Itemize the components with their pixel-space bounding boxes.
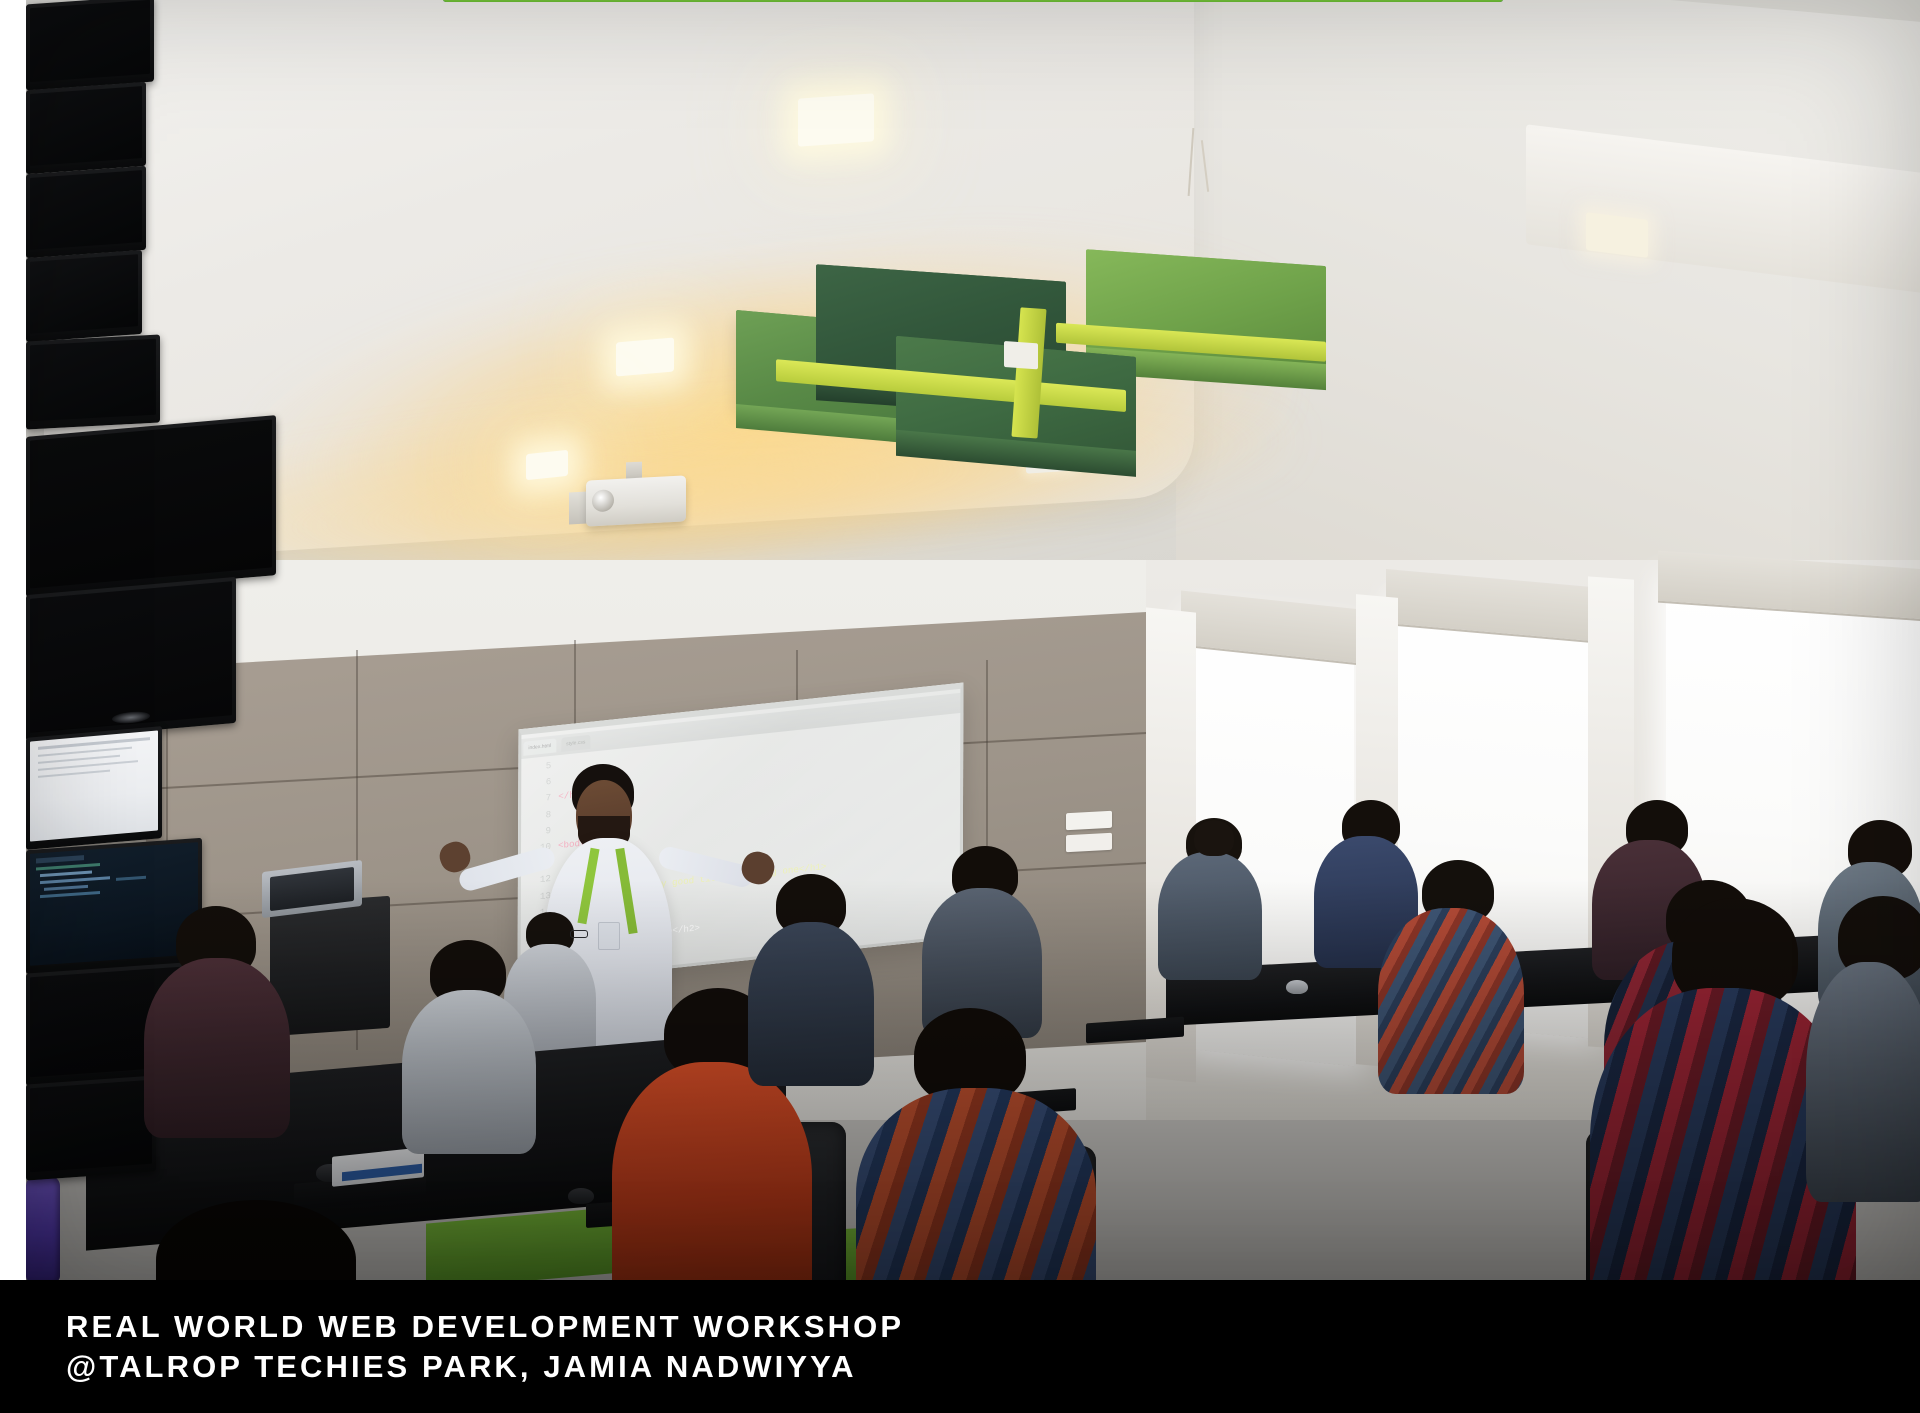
computer-monitor-front [26, 577, 236, 741]
student-glasses [570, 930, 588, 938]
recessed-ceiling-light [798, 93, 874, 146]
attendee-head [1194, 820, 1234, 856]
computer-monitor [26, 82, 146, 174]
monitor-screen-active[interactable] [30, 730, 158, 841]
monitor-screen-code[interactable] [30, 842, 198, 966]
caption-line-venue: @TALROP TECHIES PARK, JAMIA NADWIYYA [66, 1347, 1920, 1387]
monitor-screen[interactable] [30, 1080, 152, 1173]
presenter-id-badge [598, 922, 620, 950]
attendee-torso [1378, 908, 1524, 1094]
computer-monitor-front [26, 1075, 156, 1180]
projector-lens [592, 489, 614, 512]
attendee-torso-orange [612, 1062, 812, 1310]
attendee-torso [144, 958, 290, 1138]
workshop-photograph: index.html style.css 5 6 7 8 9 10 11 12 … [26, 0, 1920, 1310]
lectern [270, 896, 390, 1036]
bottle-cap [443, 0, 1504, 2]
attendee-torso [1806, 962, 1920, 1202]
ceiling-projector [586, 475, 686, 526]
water-bottle[interactable] [26, 1176, 60, 1282]
attendee-torso [1158, 852, 1262, 980]
recessed-ceiling-light [1586, 212, 1648, 258]
computer-monitor [26, 0, 154, 90]
monitor-screen[interactable] [30, 0, 150, 82]
computer-monitor [26, 250, 142, 342]
attendee-torso [402, 990, 536, 1154]
ceiling-art-panels [726, 270, 1326, 481]
computer-monitor-front [26, 415, 276, 597]
attendee-torso-plaid [856, 1088, 1096, 1310]
projector-mount [569, 492, 587, 525]
light-switch-plate[interactable] [1066, 811, 1112, 830]
computer-mouse[interactable] [1286, 980, 1308, 994]
monitor-screen[interactable] [30, 254, 138, 334]
monitor-screen[interactable] [30, 581, 232, 733]
computer-monitor-front [26, 726, 162, 850]
monitor-screen[interactable] [30, 419, 272, 588]
photo-frame: index.html style.css 5 6 7 8 9 10 11 12 … [0, 0, 1920, 1413]
ceiling-panel-gap [1004, 341, 1038, 369]
computer-monitor [26, 334, 160, 429]
light-switch-plate[interactable] [1066, 833, 1112, 852]
photo-left-margin [0, 0, 26, 1310]
recessed-ceiling-light [616, 337, 674, 376]
monitor-screen[interactable] [30, 86, 142, 166]
monitor-screen[interactable] [30, 339, 156, 422]
monitor-screen[interactable] [30, 170, 142, 250]
caption-bar: REAL WORLD WEB DEVELOPMENT WORKSHOP @TAL… [0, 1280, 1920, 1413]
caption-line-title: REAL WORLD WEB DEVELOPMENT WORKSHOP [66, 1307, 1920, 1347]
attendee-torso [748, 922, 874, 1086]
computer-monitor [26, 166, 146, 258]
recessed-ceiling-light [526, 450, 568, 480]
computer-mouse[interactable] [568, 1188, 594, 1204]
